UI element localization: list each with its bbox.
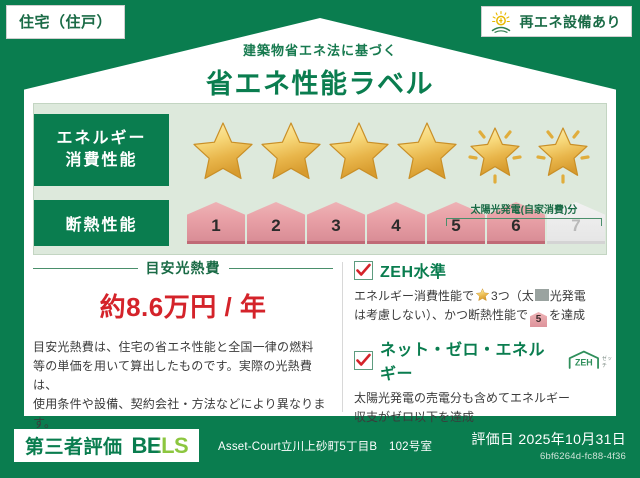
bels-certification-badge: 第三者評価 BELS	[14, 429, 199, 462]
criteria-section: ZEH水準 エネルギー消費性能で3つ（太光発電 は考慮しない）、かつ断熱性能で5…	[354, 258, 616, 436]
energy-label-line1: エネルギー	[56, 128, 146, 150]
performance-panel: 太陽光発電(自家消費)分 エネルギー 消費性能	[33, 103, 607, 255]
criterion-text-line2-part1: は考慮しない）、かつ断熱性能で	[354, 308, 528, 322]
criterion-text-part1: エネルギー消費性能で	[354, 289, 474, 303]
criterion-net-zero-energy: ネット・ゼロ・エネルギー ZEH ゼッチ 太陽光発電の売電分も含めてエネルギー …	[354, 336, 616, 427]
label-title-block: 建築物省エネ法に基づく 省エネ性能ラベル	[0, 40, 640, 101]
redacted-block	[535, 289, 549, 301]
criterion-header: ZEH水準	[354, 258, 616, 282]
star-rating	[189, 115, 597, 185]
renewable-equipment-badge: 再エネ設備あり	[481, 6, 633, 37]
solar-contribution-label: 太陽光発電(自家消費)分	[434, 201, 614, 216]
insulation-performance-label: 断熱性能	[34, 200, 169, 246]
criterion-title: ZEH水準	[380, 258, 447, 282]
property-address: Asset-Court立川上砂町5丁目B 102号室	[218, 438, 432, 454]
utility-cost-heading-text: 目安光熱費	[146, 258, 221, 278]
lower-content: 目安光熱費 約8.6万円 / 年 目安光熱費は、住宅の省エネ性能と全国一律の燃料…	[24, 258, 616, 416]
criterion-text-part3: 光発電	[550, 289, 586, 303]
svg-text:ZEH: ZEH	[575, 357, 593, 367]
criterion-header: ネット・ゼロ・エネルギー ZEH ゼッチ	[354, 336, 616, 384]
footer-bar: 第三者評価 BELS Asset-Court立川上砂町5丁目B 102号室 評価…	[0, 416, 640, 478]
criterion-body-line1: エネルギー消費性能で3つ（太光発電	[354, 287, 616, 306]
heading-rule-right	[229, 268, 334, 269]
insulation-step: 3	[307, 202, 365, 244]
star-icon	[189, 115, 257, 185]
criterion-text-part2: 3つ（太	[491, 289, 534, 303]
heading-rule-left	[33, 268, 138, 269]
evaluation-info: 評価日 2025年10月31日 6bf6264d-fc88-4f36	[471, 429, 626, 462]
criterion-body-line1: 太陽光発電の売電分も含めてエネルギー	[354, 389, 616, 408]
star-sparkle-icon	[529, 115, 597, 185]
insulation-step: 1	[187, 202, 245, 244]
check-icon	[354, 261, 373, 280]
renewable-equipment-label: 再エネ設備あり	[520, 12, 622, 32]
zeh-logo-subtext: ゼッチ	[602, 355, 616, 371]
bels-jp-label: 第三者評価	[25, 432, 123, 459]
check-icon	[354, 351, 373, 370]
insulation-label-text: 断熱性能	[65, 211, 137, 235]
energy-label-line2: 消費性能	[65, 150, 137, 172]
criterion-text-line2-part2: を達成	[549, 308, 585, 322]
evaluation-id: 6bf6264d-fc88-4f36	[471, 451, 626, 462]
insulation-step: 2	[247, 202, 305, 244]
utility-cost-heading: 目安光熱費	[33, 258, 333, 278]
criterion-title: ネット・ゼロ・エネルギー	[380, 336, 556, 384]
utility-cost-section: 目安光熱費 約8.6万円 / 年 目安光熱費は、住宅の省エネ性能と全国一律の燃料…	[33, 258, 333, 433]
utility-cost-value: 約8.6万円 / 年	[33, 287, 333, 324]
star-icon	[325, 115, 393, 185]
sun-icon	[488, 10, 514, 34]
criterion-zeh-standard: ZEH水準 エネルギー消費性能で3つ（太光発電 は考慮しない）、かつ断熱性能で5…	[354, 258, 616, 327]
star-icon	[393, 115, 461, 185]
dwelling-type-label: 住宅（住戸）	[19, 14, 112, 31]
column-divider	[342, 262, 343, 412]
insulation-grade-badge: 5	[530, 312, 547, 327]
energy-performance-label: エネルギー 消費性能	[34, 114, 169, 186]
evaluation-date: 評価日 2025年10月31日	[471, 429, 626, 449]
star-icon	[257, 115, 325, 185]
cost-desc-line: 目安光熱費は、住宅の省エネ性能と全国一律の燃料	[33, 338, 333, 357]
cost-desc-line: 等の単価を用いて算出したものです。実際の光熱費は、	[33, 357, 333, 395]
energy-performance-row: エネルギー 消費性能	[34, 114, 597, 186]
criterion-body: エネルギー消費性能で3つ（太光発電 は考慮しない）、かつ断熱性能で5を達成	[354, 287, 616, 327]
bels-en-label: BELS	[132, 433, 189, 459]
criterion-body-line2: は考慮しない）、かつ断熱性能で5を達成	[354, 306, 616, 327]
insulation-step: 4	[367, 202, 425, 244]
label-subtitle: 建築物省エネ法に基づく	[0, 40, 640, 59]
solar-bracket	[446, 218, 602, 226]
star-sparkle-icon	[461, 115, 529, 185]
dwelling-type-badge: 住宅（住戸）	[6, 5, 125, 39]
energy-performance-label: 住宅（住戸） 再エネ設備あり 建築	[0, 0, 640, 478]
solar-contribution-annotation: 太陽光発電(自家消費)分	[434, 201, 614, 226]
label-main-title: 省エネ性能ラベル	[0, 62, 640, 101]
zeh-logo-icon: ZEH ゼッチ	[567, 349, 616, 371]
star-icon	[475, 287, 490, 302]
